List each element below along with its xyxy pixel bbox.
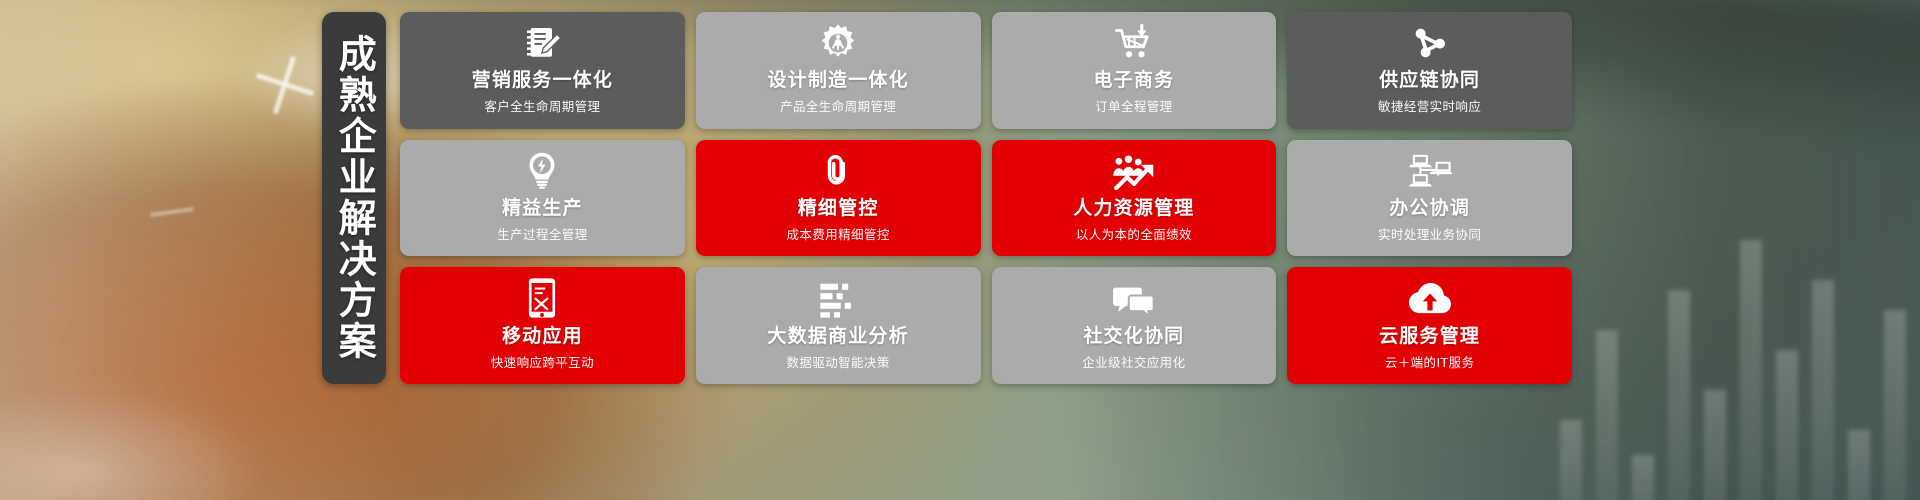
- data-bars-icon: [815, 279, 861, 319]
- solution-card-title: 人力资源管理: [1073, 198, 1194, 219]
- solution-card[interactable]: 社交化协同企业级社交应用化: [992, 267, 1277, 384]
- mobile-phone-icon: [519, 279, 565, 319]
- solution-card-subtitle: 敏捷经营实时响应: [1378, 96, 1481, 115]
- solution-card-subtitle: 以人为本的全面绩效: [1076, 224, 1192, 243]
- chat-bubbles-icon: [1111, 279, 1157, 319]
- solution-card[interactable]: 办公协调实时处理业务协同: [1287, 140, 1572, 257]
- side-title-text: 成熟企业解决方案: [333, 34, 376, 362]
- cloud-upload-icon: [1407, 279, 1453, 319]
- solution-card-title: 移动应用: [502, 326, 583, 347]
- solution-card[interactable]: 人力资源管理以人为本的全面绩效: [992, 140, 1277, 257]
- notepad-edit-icon: [519, 23, 565, 63]
- solution-card-title: 精益生产: [502, 198, 583, 219]
- side-title-panel: 成熟企业解决方案: [322, 12, 386, 384]
- background-cross-mark-2: [150, 190, 194, 234]
- solution-card[interactable]: 供应链协同敏捷经营实时响应: [1287, 12, 1572, 129]
- solution-card-subtitle: 云＋端的IT服务: [1385, 352, 1475, 371]
- shopping-cart-download-icon: [1111, 23, 1157, 63]
- solution-card[interactable]: 电子商务订单全程管理: [992, 12, 1277, 129]
- solution-card-title: 供应链协同: [1379, 70, 1480, 91]
- solution-card-title: 营销服务一体化: [472, 70, 613, 91]
- background-cross-mark-1: [255, 55, 315, 115]
- solution-card[interactable]: 设计制造一体化产品全生命周期管理: [696, 12, 981, 129]
- solution-card-subtitle: 生产过程全管理: [497, 224, 587, 243]
- solution-card-subtitle: 订单全程管理: [1095, 96, 1172, 115]
- people-growth-icon: [1111, 151, 1157, 191]
- solution-card[interactable]: 移动应用快速响应跨平互动: [400, 267, 685, 384]
- solution-card-subtitle: 数据驱动智能决策: [787, 352, 890, 371]
- lightbulb-bolt-icon: [519, 151, 565, 191]
- solution-card[interactable]: 精细管控成本费用精细管控: [696, 140, 981, 257]
- solution-card[interactable]: 云服务管理云＋端的IT服务: [1287, 267, 1572, 384]
- solution-card-subtitle: 企业级社交应用化: [1082, 352, 1185, 371]
- solution-card-title: 社交化协同: [1083, 326, 1184, 347]
- solution-card-title: 办公协调: [1389, 198, 1470, 219]
- solution-card[interactable]: 营销服务一体化客户全生命周期管理: [400, 12, 685, 129]
- gear-person-icon: [815, 23, 861, 63]
- solution-card-title: 设计制造一体化: [767, 70, 908, 91]
- solution-card[interactable]: 精益生产生产过程全管理: [400, 140, 685, 257]
- solutions-board: 成熟企业解决方案 营销服务一体化客户全生命周期管理设计制造一体化产品全生命周期管…: [322, 12, 1572, 384]
- solution-card-subtitle: 产品全生命周期管理: [780, 96, 896, 115]
- solution-card-title: 大数据商业分析: [767, 326, 908, 347]
- solution-card-subtitle: 成本费用精细管控: [787, 224, 890, 243]
- solution-card-title: 云服务管理: [1379, 326, 1480, 347]
- solution-card-subtitle: 客户全生命周期管理: [484, 96, 600, 115]
- solution-card-title: 精细管控: [798, 198, 879, 219]
- solution-card-title: 电子商务: [1093, 70, 1174, 91]
- paperclip-icon: [815, 151, 861, 191]
- solution-card-grid: 营销服务一体化客户全生命周期管理设计制造一体化产品全生命周期管理电子商务订单全程…: [400, 12, 1572, 384]
- solution-card-subtitle: 实时处理业务协同: [1378, 224, 1481, 243]
- share-network-icon: [1407, 23, 1453, 63]
- computer-network-icon: [1407, 151, 1453, 191]
- solution-card-subtitle: 快速响应跨平互动: [491, 352, 594, 371]
- solution-card[interactable]: 大数据商业分析数据驱动智能决策: [696, 267, 981, 384]
